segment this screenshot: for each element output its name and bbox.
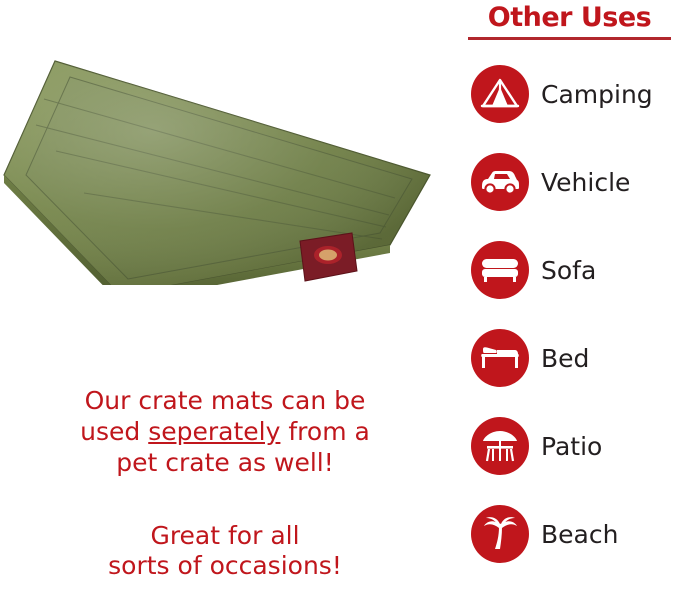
tent-icon <box>471 65 529 123</box>
use-label-patio: Patio <box>541 432 602 461</box>
other-uses-panel: Other Uses Camping <box>455 0 679 593</box>
sofa-icon <box>471 241 529 299</box>
promo-line-1: Our crate mats can be <box>10 385 440 416</box>
promo-line-2: used seperately from a <box>10 416 440 447</box>
title-divider <box>468 37 671 40</box>
use-row-patio: Patio <box>471 410 679 482</box>
use-label-vehicle: Vehicle <box>541 168 630 197</box>
use-row-vehicle: Vehicle <box>471 146 679 218</box>
use-row-bed: Bed <box>471 322 679 394</box>
patio-table-umbrella-icon <box>471 417 529 475</box>
use-row-beach: Beach <box>471 498 679 570</box>
promo-line-3: pet crate as well! <box>10 447 440 478</box>
promo-underlined-word: seperately <box>148 417 280 446</box>
product-image-mat <box>0 55 455 285</box>
use-row-camping: Camping <box>471 58 679 130</box>
product-infographic: Our crate mats can be used seperately fr… <box>0 0 679 593</box>
promo-text-block-2: Great for all sorts of occasions! <box>10 521 440 581</box>
use-label-beach: Beach <box>541 520 618 549</box>
brand-tag <box>300 233 357 281</box>
promo-text-block-1: Our crate mats can be used seperately fr… <box>10 385 440 478</box>
palm-tree-icon <box>471 505 529 563</box>
use-label-camping: Camping <box>541 80 653 109</box>
promo-line-4: Great for all <box>10 521 440 551</box>
promo-line-5: sorts of occasions! <box>10 551 440 581</box>
use-label-bed: Bed <box>541 344 589 373</box>
car-icon <box>471 153 529 211</box>
use-label-sofa: Sofa <box>541 256 596 285</box>
bed-icon <box>471 329 529 387</box>
use-row-sofa: Sofa <box>471 234 679 306</box>
panel-title: Other Uses <box>467 2 672 33</box>
mat-illustration <box>0 55 455 285</box>
